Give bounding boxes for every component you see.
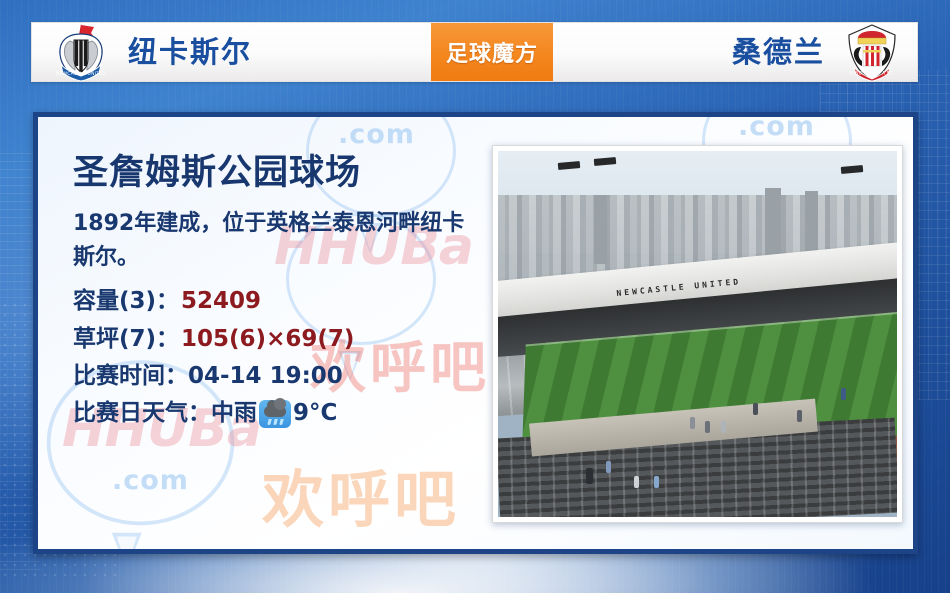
weather-temperature: 9°C (293, 395, 337, 432)
weather-label: 比赛日天气： (73, 395, 211, 432)
stadium-title: 圣詹姆斯公园球场 (73, 153, 493, 193)
svg-text:SUNDERLAND A.F.C.: SUNDERLAND A.F.C. (849, 71, 894, 76)
stadium-description: 1892年建成，位于英格兰泰恩河畔纽卡斯尔。 (73, 207, 473, 275)
home-team-name: 纽卡斯尔 (128, 38, 252, 67)
site-brand-logo[interactable]: 足球魔方 (431, 23, 553, 81)
watermark-cheer-bottom: 欢呼吧 (262, 449, 460, 539)
away-team-block[interactable]: 桑德兰 SUNDERLAND A.F.C. (732, 23, 917, 81)
capacity-row: 容量(3)： 52409 (73, 283, 493, 320)
match-time-row: 比赛时间： 04-14 19:00 (73, 358, 493, 395)
match-time-label: 比赛时间： (73, 358, 188, 395)
stadium-photo-frame[interactable]: NEWCASTLE UNITED (492, 145, 903, 523)
home-team-block[interactable]: NEWCASTLE UNITED 纽卡斯尔 (32, 23, 252, 81)
stadium-info-panel: .com .com HHUBa 欢呼吧 HHUBa .com 欢呼吧 圣詹姆斯公… (33, 112, 918, 554)
pitch-label: 草坪(7)： (73, 321, 179, 358)
away-team-name: 桑德兰 (732, 38, 825, 67)
watermark-com-top: .com (338, 119, 415, 150)
weather-row: 比赛日天气： 中雨 9°C (73, 395, 493, 432)
pitch-row: 草坪(7)： 105(6)×69(7) (73, 321, 493, 358)
watermark-com-topright: .com (738, 117, 815, 142)
stadium-info-block: 圣詹姆斯公园球场 1892年建成，位于英格兰泰恩河畔纽卡斯尔。 容量(3)： 5… (73, 153, 493, 432)
capacity-label: 容量(3)： (73, 283, 179, 320)
stadium-photo: NEWCASTLE UNITED (498, 151, 897, 517)
sunderland-afc-crest: SUNDERLAND A.F.C. (841, 21, 903, 83)
pitch-value: 105(6)×69(7) (181, 321, 354, 358)
capacity-value: 52409 (181, 283, 261, 320)
svg-text:NEWCASTLE UNITED: NEWCASTLE UNITED (56, 71, 106, 77)
match-header-bar: NEWCASTLE UNITED 纽卡斯尔 足球魔方 桑德兰 (31, 22, 918, 82)
site-brand-text: 足球魔方 (446, 36, 538, 68)
match-time-value: 04-14 19:00 (188, 358, 343, 395)
rain-cloud-icon (259, 400, 291, 428)
watermark-com-bottom: .com (112, 465, 189, 496)
newcastle-united-crest: NEWCASTLE UNITED (50, 21, 112, 83)
weather-condition: 中雨 (211, 395, 257, 432)
